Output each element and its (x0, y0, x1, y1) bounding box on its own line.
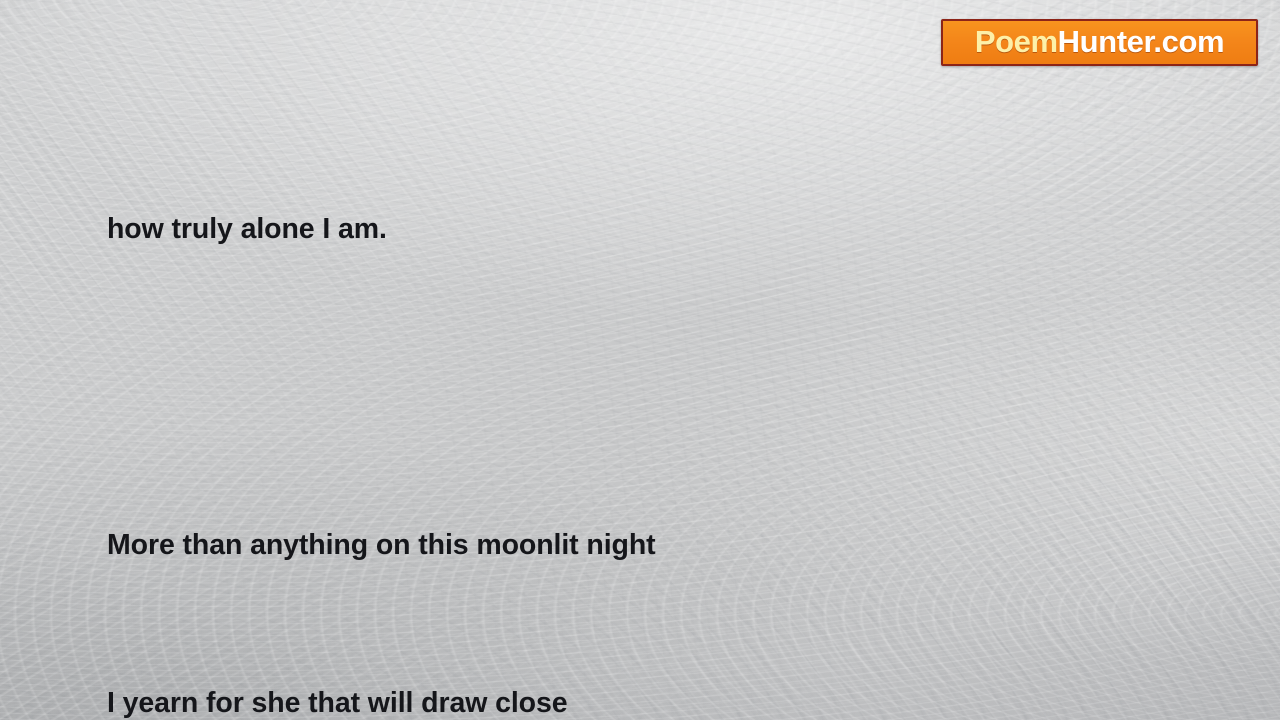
poem-slide: how truly alone I am. More than anything… (0, 0, 1280, 720)
poem-line-1: how truly alone I am. (107, 203, 927, 256)
poemhunter-logo-text: PoemHunter.com (975, 26, 1224, 59)
poem-line-blank (107, 361, 927, 414)
poem-line-3: I yearn for she that will draw close (107, 677, 927, 720)
poem-line-2: More than anything on this moonlit night (107, 519, 927, 572)
logo-word-poem: Poem (975, 24, 1058, 59)
poemhunter-logo[interactable]: PoemHunter.com (941, 19, 1258, 66)
poem-text-block: how truly alone I am. More than anything… (107, 98, 927, 720)
logo-word-hunter: Hunter.com (1058, 24, 1225, 59)
